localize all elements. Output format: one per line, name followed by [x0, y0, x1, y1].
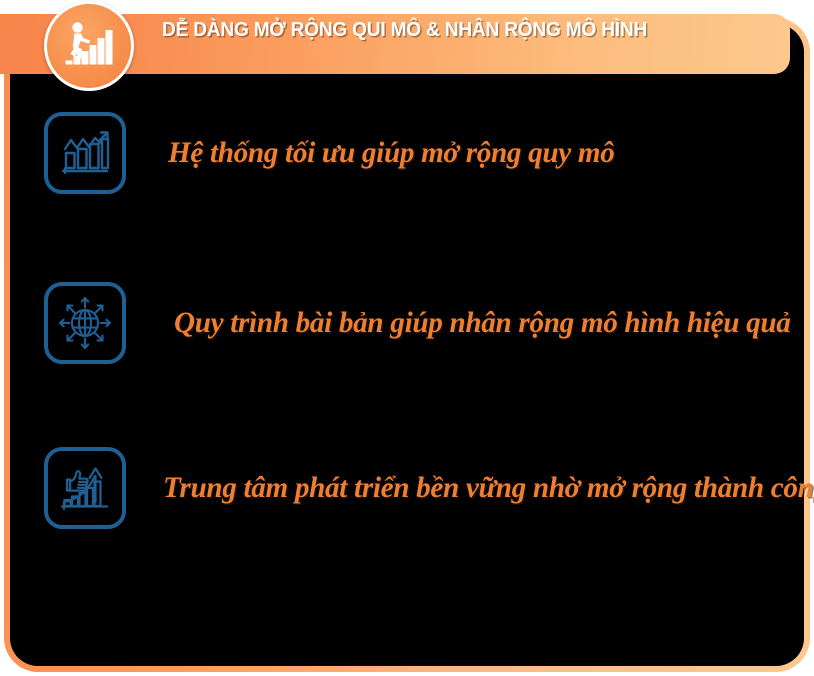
globe-expand-arrows-icon [57, 295, 113, 351]
feature-rows: Hệ thống tối ưu giúp mở rộng quy mô [0, 0, 814, 676]
infographic-screen: DỄ DÀNG MỞ RỘNG QUI MÔ & NHÂN RỘNG MÔ HÌ… [0, 0, 814, 676]
thumbs-up-growth-chart-icon [57, 462, 113, 514]
feature-row-label: Trung tâm phát triển bền vững nhờ mở rộn… [163, 471, 814, 505]
icon-tile [44, 112, 126, 194]
feature-row-label: Hệ thống tối ưu giúp mở rộng quy mô [168, 136, 615, 170]
feature-row-label: Quy trình bài bản giúp nhân rộng mô hình… [174, 306, 790, 340]
icon-tile [44, 282, 126, 364]
icon-tile [44, 447, 126, 529]
bar-chart-growth-arrow-icon [57, 127, 113, 179]
header-badge [44, 1, 134, 91]
person-climbing-bar-chart-icon [60, 20, 118, 72]
feature-row: Quy trình bài bản giúp nhân rộng mô hình… [44, 282, 784, 364]
feature-row: Hệ thống tối ưu giúp mở rộng quy mô [44, 112, 784, 194]
feature-row: Trung tâm phát triển bền vững nhờ mở rộn… [44, 447, 784, 529]
